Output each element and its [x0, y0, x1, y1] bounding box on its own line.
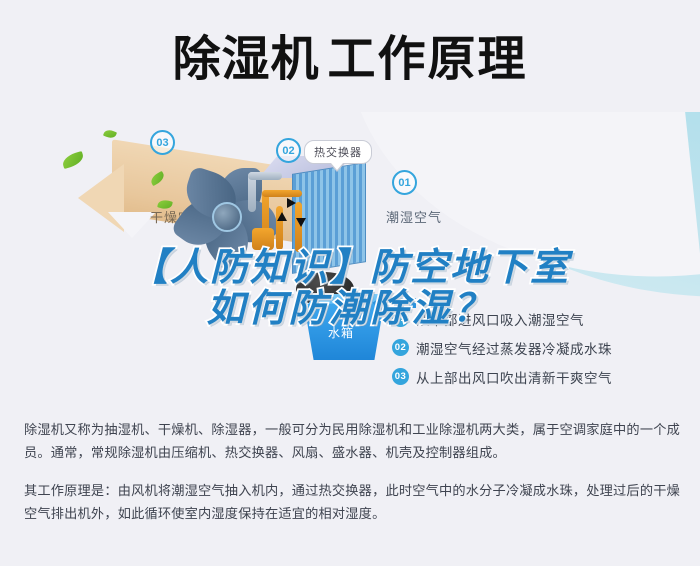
diagram-legend: 01 从下部进风口吸入潮湿空气 02 潮湿空气经过蒸发器冷凝成水珠 03 从上部… [392, 304, 692, 391]
legend-item: 02 潮湿空气经过蒸发器冷凝成水珠 [392, 333, 692, 362]
flow-arrow-right-icon [287, 198, 296, 208]
page-title-part2: 工作原理 [328, 31, 528, 87]
diagram-badge-02: 02 [276, 138, 301, 163]
copper-pipe [295, 202, 302, 252]
diagram-badge-01: 01 [392, 170, 417, 195]
water-tank-label: 水箱 [328, 324, 354, 341]
article-paragraph-2: 其工作原理是：由风机将潮湿空气抽入机内，通过热交换器，此时空气中的水分子冷凝成水… [24, 479, 680, 525]
infographic-page: 除湿机工作原理 干燥空气 [0, 0, 700, 566]
heat-exchanger-callout: 热交换器 [304, 140, 372, 164]
legend-badge-03: 03 [392, 368, 409, 385]
legend-text-03: 从上部出风口吹出清新干爽空气 [416, 367, 612, 387]
legend-item: 01 从下部进风口吸入潮湿空气 [392, 304, 692, 333]
dry-air-arrow-notch [108, 212, 156, 238]
heat-exchanger-unit [246, 154, 372, 284]
refrigerant-pipes [246, 172, 316, 264]
legend-item: 03 从上部出风口吹出清新干爽空气 [392, 362, 692, 391]
diagram-badge-03: 03 [150, 130, 175, 155]
copper-pipe [252, 228, 274, 250]
legend-badge-02: 02 [392, 339, 409, 356]
legend-text-01: 从下部进风口吸入潮湿空气 [416, 309, 584, 329]
header-banner: 除湿机工作原理 [0, 0, 700, 118]
diagram-illustration: 干燥空气 [0, 112, 700, 407]
flow-arrow-up-icon [277, 212, 287, 221]
copper-pipe [262, 190, 302, 197]
article-paragraph-1: 除湿机又称为抽湿机、干燥机、除湿器，一般可分为民用除湿机和工业除湿机两大类，属于… [24, 418, 680, 464]
moist-air-label: 潮湿空气 [386, 207, 442, 226]
outlet-arrow-icon [372, 290, 392, 316]
legend-badge-01: 01 [392, 310, 409, 327]
article-body: 除湿机又称为抽湿机、干燥机、除湿器，一般可分为民用除湿机和工业除湿机两大类，属于… [24, 418, 680, 525]
page-title: 除湿机工作原理 [172, 35, 527, 84]
intake-pipe-bend [248, 172, 282, 180]
fan-hub [212, 202, 242, 232]
page-title-part1: 除湿机 [172, 33, 319, 86]
legend-text-02: 潮湿空气经过蒸发器冷凝成水珠 [416, 338, 612, 358]
flow-arrow-down-icon [296, 218, 306, 227]
leaf-icon [103, 128, 117, 140]
